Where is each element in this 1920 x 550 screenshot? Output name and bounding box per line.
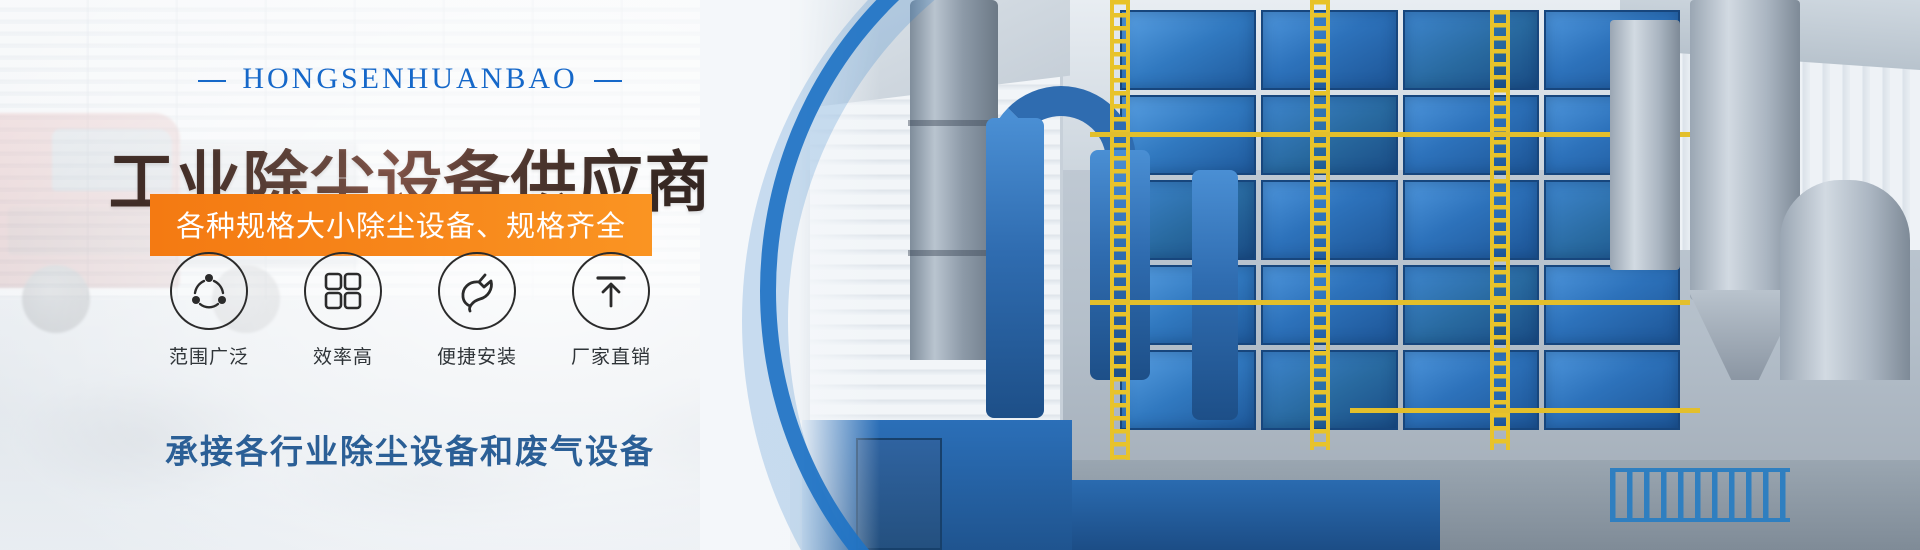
wrench-circle-icon bbox=[438, 252, 516, 330]
feature-item-efficiency[interactable]: 效率高 bbox=[302, 252, 384, 369]
service-ladder bbox=[1310, 0, 1330, 450]
service-ladder bbox=[1490, 10, 1510, 450]
steel-tank-rounded bbox=[1780, 180, 1910, 380]
catwalk-railing bbox=[1090, 300, 1690, 305]
baghouse-cell bbox=[1120, 10, 1256, 90]
steel-duct-tall bbox=[1610, 20, 1680, 270]
baghouse-cell bbox=[1403, 10, 1539, 90]
brand-eyebrow-text: HONGSENHUANBAO bbox=[242, 62, 577, 95]
share-nodes-icon bbox=[170, 252, 248, 330]
baghouse-cell bbox=[1403, 265, 1539, 345]
blue-fence bbox=[1610, 468, 1790, 522]
up-arrow-bar-icon bbox=[572, 252, 650, 330]
promo-banner: HONGSENHUANBAO 工业除尘设备供应商 各种规格大小除尘设备、规格齐全… bbox=[0, 0, 1920, 550]
feature-label: 便捷安装 bbox=[436, 342, 518, 369]
duct-vertical-right bbox=[1192, 170, 1238, 420]
service-ladder bbox=[1110, 0, 1130, 470]
catwalk-railing bbox=[1090, 132, 1690, 137]
feature-list: 范围广泛 效率高 bbox=[0, 252, 820, 369]
grid-four-squares-icon bbox=[304, 252, 382, 330]
catwalk-railing bbox=[1350, 408, 1700, 413]
subtitle-badge: 各种规格大小除尘设备、规格齐全 bbox=[150, 194, 652, 256]
feature-label: 效率高 bbox=[302, 342, 384, 369]
banner-tagline: 承接各行业除尘设备和废气设备 bbox=[0, 425, 820, 473]
feature-item-scope[interactable]: 范围广泛 bbox=[168, 252, 250, 369]
baghouse-cell bbox=[1544, 265, 1680, 345]
baghouse-cell bbox=[1544, 350, 1680, 430]
feature-label: 厂家直销 bbox=[570, 342, 652, 369]
feature-label: 范围广泛 bbox=[168, 342, 250, 369]
baghouse-cell bbox=[1403, 180, 1539, 260]
baghouse-cell bbox=[1403, 350, 1539, 430]
brand-eyebrow: HONGSENHUANBAO bbox=[0, 62, 820, 96]
dash-right-icon bbox=[594, 80, 622, 82]
dash-left-icon bbox=[198, 80, 226, 82]
feature-item-installation[interactable]: 便捷安装 bbox=[436, 252, 518, 369]
blue-base-wall bbox=[1020, 480, 1440, 550]
feature-item-direct-sales[interactable]: 厂家直销 bbox=[570, 252, 652, 369]
banner-content: HONGSENHUANBAO 工业除尘设备供应商 各种规格大小除尘设备、规格齐全… bbox=[0, 0, 900, 550]
